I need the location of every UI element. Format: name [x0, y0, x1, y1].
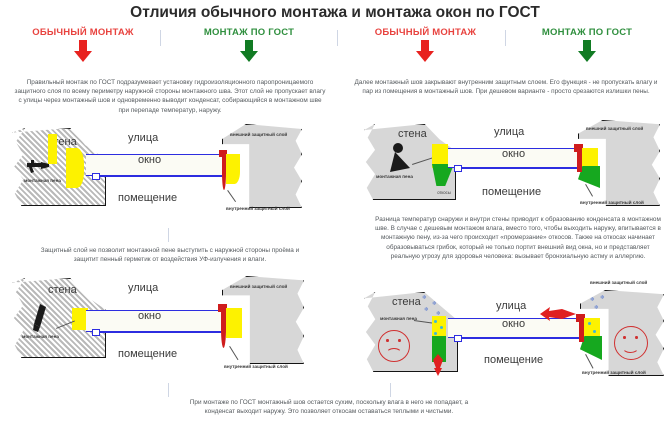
- col-header-right-gost: МОНТАЖ ПО ГОСТ: [508, 27, 666, 38]
- snowflake-icon-5: ❄: [590, 298, 595, 304]
- separator-left-mid: [168, 228, 169, 242]
- condensation-dot-5: [593, 330, 596, 333]
- condensation-dot-1: [434, 320, 437, 323]
- label-room-4: помещение: [484, 354, 543, 366]
- paragraph-left-mid: Защитный слой не позволит монтажной пене…: [28, 246, 312, 264]
- down-arrow-green-1: [240, 40, 258, 62]
- label-outer-layer-1: внешний защитный слой: [230, 132, 282, 138]
- paragraph-bottom: При монтаже по ГОСТ монтажный шов остает…: [178, 398, 480, 416]
- paragraph-right-top: Далее монтажный шов закрывают внутренним…: [352, 78, 660, 96]
- paragraph-right-mid: Разница температур снаружи и внутри стен…: [374, 215, 662, 261]
- diagram-2-ordinary-vs-gost-bottom: стена монтажная пена улица помещение окн…: [0, 272, 336, 384]
- label-window-3: окно: [502, 148, 525, 160]
- foam-block-gost-2: [226, 308, 242, 338]
- snowflake-icon-1: ❄: [422, 296, 427, 302]
- heat-arrow-icon-1: [432, 354, 444, 376]
- diagram-3-slopes-top: стена монтажная пена откосы улица помеще…: [350, 116, 670, 220]
- label-room-1: помещение: [118, 192, 177, 204]
- sad-face-icon: [378, 330, 410, 362]
- leader-inner-4: [585, 354, 593, 369]
- window-sill-line-1: [92, 176, 222, 177]
- condensation-dot-3: [434, 332, 437, 335]
- label-inner-layer-1: внутренний защитный слой: [226, 206, 284, 212]
- label-foam-1: монтажная пена: [24, 178, 64, 184]
- window-sill-block-2: [92, 329, 100, 336]
- down-arrow-green-2: [578, 40, 596, 62]
- foam-block-1b: [66, 148, 84, 188]
- down-arrow-red-1: [74, 40, 92, 62]
- col-header-left-ordinary: ОБЫЧНЫЙ МОНТАЖ: [8, 27, 158, 38]
- label-street-1: улица: [128, 132, 158, 144]
- label-street-4: улица: [496, 300, 526, 312]
- separator-left-lower: [168, 383, 169, 397]
- separator-center: [337, 30, 338, 46]
- label-foam-3: монтажная пена: [376, 174, 418, 180]
- snowflake-icon-6: ❄: [600, 296, 605, 302]
- label-street-3: улица: [494, 126, 524, 138]
- label-window-1: окно: [138, 154, 161, 166]
- label-room-3: помещение: [482, 186, 541, 198]
- label-wall-2: стена: [48, 284, 77, 296]
- window-sill-line-4: [454, 338, 584, 339]
- leader-inner-3: [585, 184, 593, 197]
- window-sill-block-3: [454, 165, 462, 172]
- leader-inner-2: [229, 346, 238, 360]
- foam-gun-icon-2: [30, 302, 54, 334]
- snowflake-icon-7: ❄: [594, 306, 599, 312]
- snowflake-icon-2: ❄: [432, 302, 437, 308]
- foam-block-1a: [48, 134, 57, 164]
- diagram-4-condensation-comparison: стена ❄ ❄ ❄ ❄ монтажная пена улица помещ…: [350, 288, 670, 392]
- label-outer-layer-3: внешний защитный слой: [586, 126, 640, 132]
- foam-block-gost-1: [226, 154, 240, 184]
- separator-left-column: [160, 30, 161, 46]
- condensation-dot-4: [588, 322, 591, 325]
- inner-protective-layer-4: [579, 320, 584, 342]
- label-wall-4: стена: [392, 296, 421, 308]
- label-inner-layer-4: внутренний защитный слой: [582, 370, 642, 376]
- col-header-left-gost: МОНТАЖ ПО ГОСТ: [164, 27, 334, 38]
- window-sill-block-1: [92, 173, 100, 180]
- label-outer-layer-4: внешний защитный слой: [590, 280, 644, 286]
- inner-protective-layer-3: [577, 150, 582, 172]
- happy-face-icon: [614, 326, 648, 360]
- down-arrow-red-2: [416, 40, 434, 62]
- snowflake-icon-3: ❄: [424, 308, 429, 314]
- window-sill-line-3: [454, 168, 580, 169]
- inner-protective-layer-2: [221, 310, 226, 348]
- condensation-dot-2: [440, 326, 443, 329]
- paragraph-left-top: Правильный монтаж по ГОСТ подразумевает …: [14, 78, 326, 115]
- separator-right-column: [505, 30, 506, 46]
- window-sill-block-4: [454, 335, 462, 342]
- label-outer-layer-2: внешний защитный слой: [230, 284, 284, 290]
- page-title: Отличия обычного монтажа и монтажа окон …: [0, 4, 670, 22]
- diagram-1-ordinary-vs-gost-top: стена монтажная пена улица помещение окн…: [0, 118, 336, 222]
- window-sill-line-2: [92, 332, 222, 333]
- label-window-4: окно: [502, 318, 525, 330]
- label-inner-layer-3: внутренний защитный слой: [580, 200, 638, 206]
- label-street-2: улица: [128, 282, 158, 294]
- label-wall-3: стена: [398, 128, 427, 140]
- label-window-2: окно: [138, 310, 161, 322]
- label-foam-2: монтажная пена: [22, 334, 62, 340]
- foam-gun-icon-3: [386, 142, 416, 174]
- heat-arrow-icon-2: [540, 306, 576, 322]
- label-room-2: помещение: [118, 348, 177, 360]
- col-header-right-ordinary: ОБЫЧНЫЙ МОНТАЖ: [348, 27, 503, 38]
- infographic-root: Отличия обычного монтажа и монтажа окон …: [0, 0, 670, 426]
- label-inner-layer-2: внутренний защитный слой: [224, 364, 284, 370]
- label-slopes-3: откосы: [426, 190, 462, 195]
- leader-inner-1: [227, 190, 236, 202]
- inner-protective-layer-1: [222, 156, 226, 190]
